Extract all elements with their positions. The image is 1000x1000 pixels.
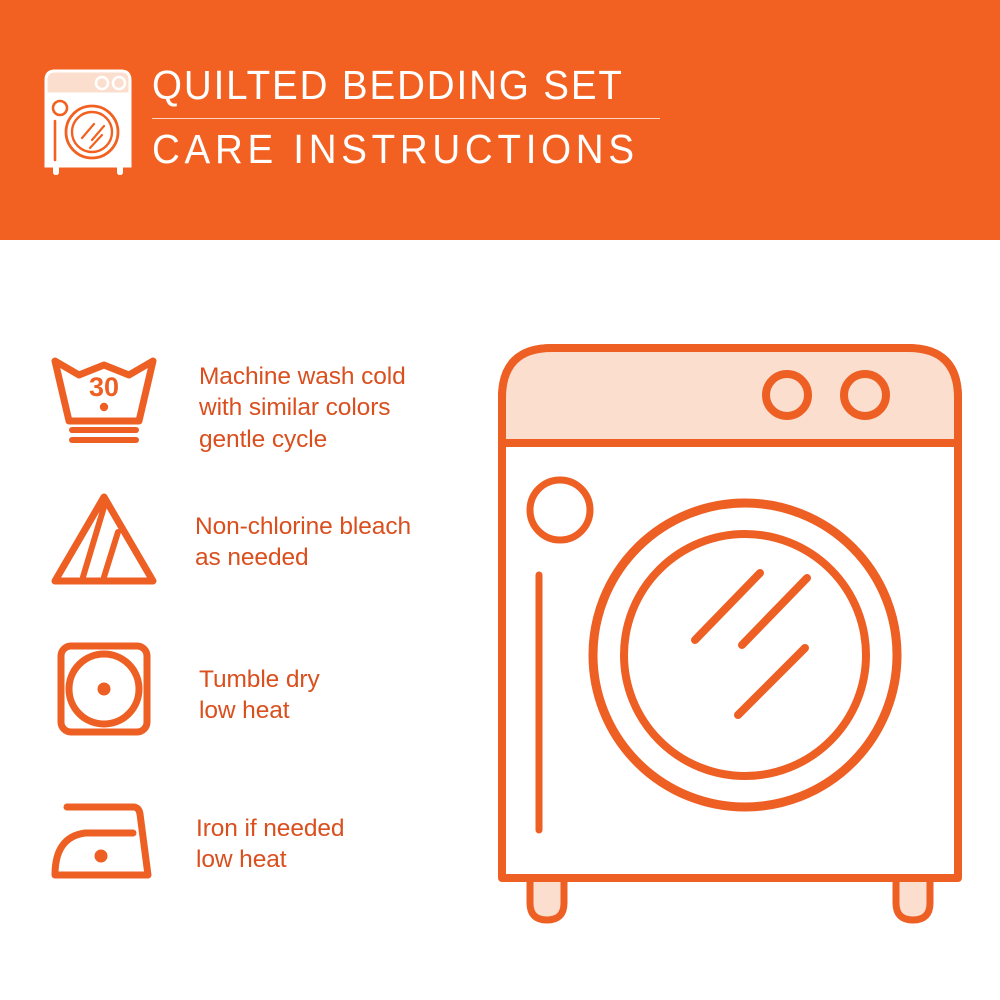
title-block: QUILTED BEDDING SET CARE INSTRUCTIONS xyxy=(152,62,670,171)
header-content: QUILTED BEDDING SET CARE INSTRUCTIONS xyxy=(40,62,670,176)
care-item-label: Tumble dry low heat xyxy=(163,638,320,727)
care-item-tumble-dry: Tumble dry low heat xyxy=(45,638,320,742)
care-item-bleach: Non-chlorine bleach as needed xyxy=(45,487,411,591)
wash-temperature-label: 30 xyxy=(89,372,119,402)
care-item-iron: Iron if needed low heat xyxy=(45,793,344,897)
care-instruction-list: 30 Machine wash cold with similar colors… xyxy=(0,240,480,1000)
care-item-label: Non-chlorine bleach as needed xyxy=(163,487,411,574)
care-item-machine-wash: 30 Machine wash cold with similar colors… xyxy=(45,345,406,455)
title-divider xyxy=(152,118,660,119)
iron-icon xyxy=(45,793,163,897)
care-item-label: Iron if needed low heat xyxy=(163,793,344,876)
wash-tub-icon: 30 xyxy=(45,345,163,449)
washing-machine-icon xyxy=(40,66,136,176)
washing-machine-illustration xyxy=(490,330,970,940)
tumble-dry-icon xyxy=(45,638,163,742)
page-subtitle: CARE INSTRUCTIONS xyxy=(152,128,639,171)
page-title: QUILTED BEDDING SET xyxy=(152,64,639,107)
bleach-triangle-icon xyxy=(45,487,163,591)
care-instructions-page: QUILTED BEDDING SET CARE INSTRUCTIONS 30… xyxy=(0,0,1000,1000)
page-header: QUILTED BEDDING SET CARE INSTRUCTIONS xyxy=(0,0,1000,240)
care-item-label: Machine wash cold with similar colors ge… xyxy=(163,345,406,455)
